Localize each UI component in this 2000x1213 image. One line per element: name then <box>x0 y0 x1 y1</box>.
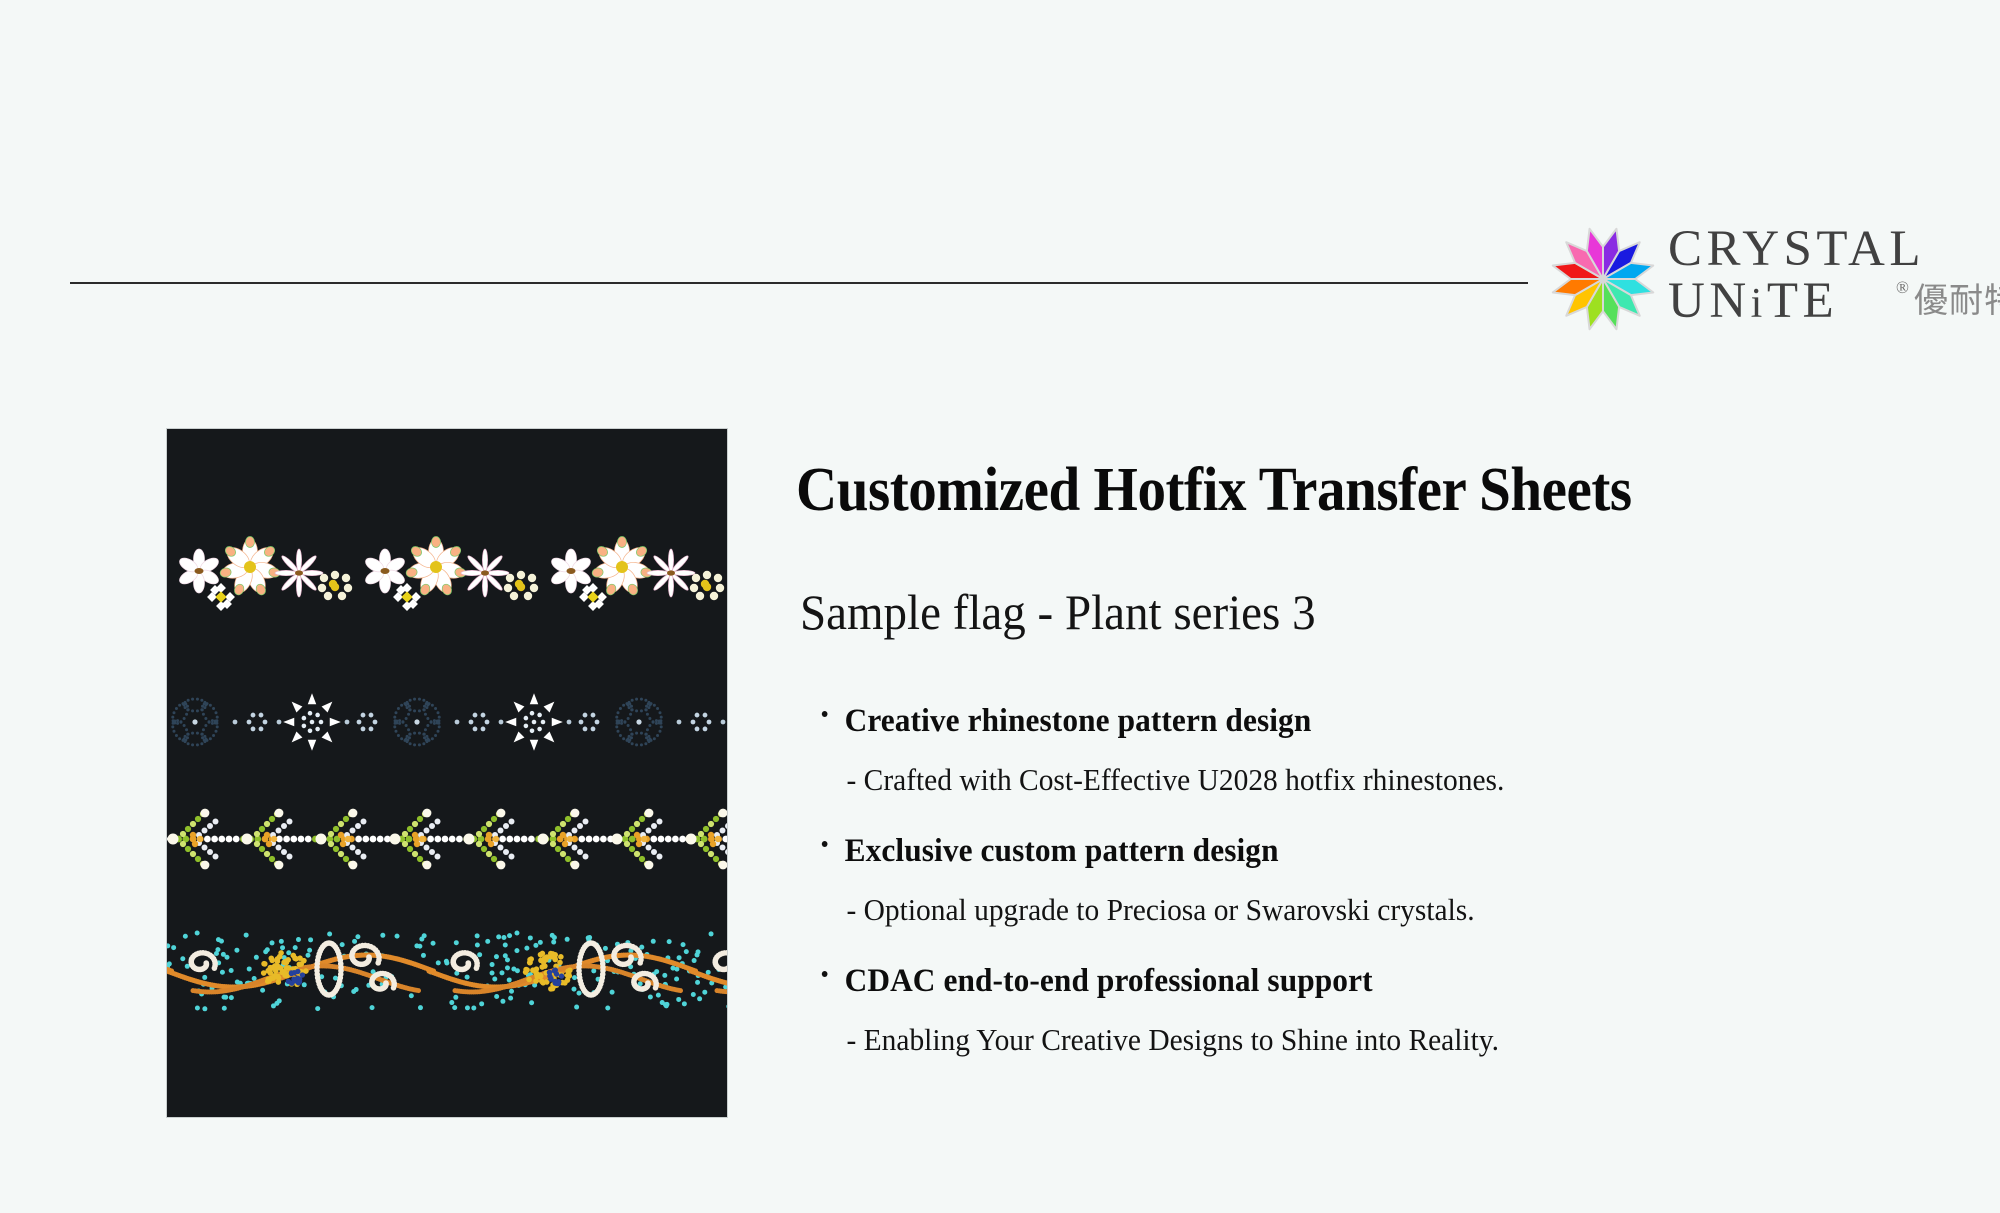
brand-name-line1: CRYSTAL <box>1668 224 1925 275</box>
brand-wordmark: CRYSTAL UNiTE ® 優耐特 <box>1668 222 1948 334</box>
list-item: Creative rhinestone pattern design - Cra… <box>818 700 1878 800</box>
bullet-subtext: - Optional upgrade to Preciosa or Swarov… <box>818 890 1825 930</box>
brand-name-te: TE <box>1767 273 1838 329</box>
brand-name-chinese: 優耐特 <box>1914 284 2000 318</box>
pattern-row-daisy-flower-border <box>167 529 727 649</box>
bullet-heading-label: CDAC end-to-end professional support <box>845 963 1373 999</box>
bullet-subtext: - Enabling Your Creative Designs to Shin… <box>818 1020 1825 1060</box>
crystal-unite-pinwheel-logo-icon <box>1548 224 1658 334</box>
brand-logo: CRYSTAL UNiTE ® 優耐特 <box>1548 222 1948 340</box>
bullet-dot-icon <box>822 841 828 847</box>
list-item: Exclusive custom pattern design - Option… <box>818 830 1878 930</box>
bullet-heading-label: Exclusive custom pattern design <box>845 833 1279 869</box>
brand-name-i: i <box>1751 281 1767 327</box>
list-item: CDAC end-to-end professional support - E… <box>818 960 1878 1060</box>
sample-flag-image <box>167 429 727 1117</box>
bullet-heading: CDAC end-to-end professional support <box>818 960 1825 1002</box>
feature-bullet-list: Creative rhinestone pattern design - Cra… <box>818 700 1878 1060</box>
brand-name-line2: UNiTE <box>1668 276 1838 327</box>
registered-trademark-icon: ® <box>1896 278 1909 298</box>
brand-name-un: UN <box>1668 273 1751 329</box>
bullet-dot-icon <box>822 971 828 977</box>
bullet-subtext: - Crafted with Cost-Effective U2028 hotf… <box>818 760 1825 800</box>
bullet-heading: Exclusive custom pattern design <box>818 830 1825 872</box>
header-divider-line <box>70 282 1528 284</box>
pattern-row-swirl-wave-border <box>167 919 727 1039</box>
pattern-row-vine-leaf-border <box>167 799 727 919</box>
bullet-heading-label: Creative rhinestone pattern design <box>845 703 1312 739</box>
page-subtitle: Sample flag - Plant series 3 <box>800 583 1316 641</box>
bullet-dot-icon <box>822 711 828 717</box>
pattern-row-dotted-flower-starburst-border <box>167 674 727 794</box>
bullet-heading: Creative rhinestone pattern design <box>818 700 1825 742</box>
page-title: Customized Hotfix Transfer Sheets <box>796 455 1632 526</box>
